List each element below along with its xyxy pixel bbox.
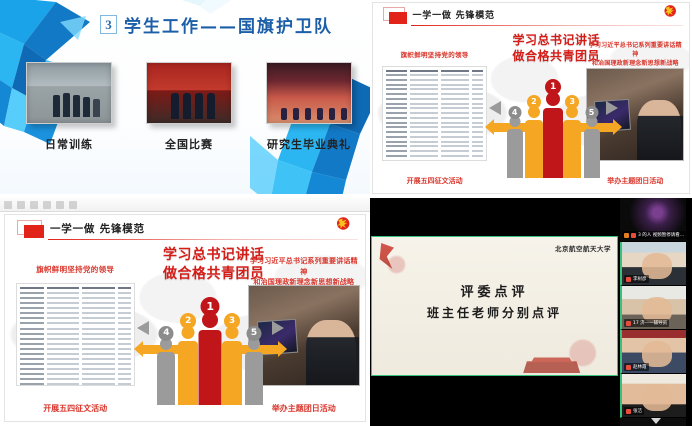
table-row <box>386 126 482 130</box>
left-caption: 旗帜鲜明坚持党的领导 <box>16 264 135 275</box>
five-step-people-infographic: 4 2 1 3 <box>138 306 282 405</box>
participant-thumbnail[interactable]: 张洁 <box>620 374 692 418</box>
participant-name: 17 济——辅导员 <box>633 320 667 326</box>
people-number-badge-4: 4 <box>508 106 521 119</box>
slide-header-title: 一学一做 先锋模范 <box>413 8 495 21</box>
ppt-toolbar-strip[interactable] <box>0 198 370 212</box>
people-figure-3: 3 <box>563 106 582 178</box>
table-row <box>386 92 482 96</box>
redo-icon[interactable] <box>30 201 38 209</box>
table-row <box>20 326 131 330</box>
table-row <box>386 111 482 115</box>
video-off-icon <box>624 233 629 238</box>
people-number-badge-3: 3 <box>224 313 240 329</box>
people-figures: 4 2 1 3 <box>155 312 264 405</box>
slide-header-title: 一学一做 先锋模范 <box>50 221 145 236</box>
people-figures: 4 2 1 3 <box>505 92 601 178</box>
table-row <box>20 372 131 376</box>
table-row <box>386 107 482 111</box>
photo-row: 日常训练 全国比赛 研究生毕业典礼 <box>26 62 352 152</box>
table-row <box>20 367 131 371</box>
table-row <box>20 291 131 295</box>
table-row <box>386 144 482 148</box>
people-figure-5: 5 <box>243 338 265 405</box>
comment-icon[interactable] <box>69 201 77 209</box>
screenshot-grid: 3 学生工作——国旗护卫队 日常训练 全国比赛 <box>0 0 692 426</box>
photo-card-graduation-ceremony: 研究生毕业典礼 <box>266 62 352 152</box>
photo-card-national-competition: 全国比赛 <box>146 62 232 152</box>
photo-national-competition <box>146 62 232 124</box>
document-list-screenshot <box>16 283 135 386</box>
table-row <box>20 362 131 366</box>
table-row <box>386 116 482 120</box>
table-row <box>20 321 131 325</box>
people-figure-2: 2 <box>177 326 199 404</box>
bottom-left-caption: 开展五四征文活动 <box>16 403 135 414</box>
slide-number-badge: 3 <box>100 15 117 34</box>
photo-caption-national-competition: 全国比赛 <box>146 136 232 152</box>
people-number-badge-2: 2 <box>180 313 196 329</box>
participant-thumbnail[interactable]: 赵林霞 <box>620 330 692 374</box>
photo-daily-training <box>26 62 112 124</box>
table-row <box>20 296 131 300</box>
slide-title-group: 3 学生工作——国旗护卫队 <box>100 12 333 37</box>
save-icon[interactable] <box>4 201 12 209</box>
participant-name: 张洁 <box>633 408 642 414</box>
five-step-people-infographic: 4 2 1 3 <box>490 87 616 178</box>
table-row <box>386 121 482 125</box>
table-row <box>386 149 482 153</box>
photo-caption-graduation-ceremony: 研究生毕业典礼 <box>266 136 352 152</box>
people-number-badge-1: 1 <box>201 297 220 316</box>
header-rule <box>48 239 358 241</box>
table-row <box>386 78 482 82</box>
table-row <box>386 159 482 161</box>
arrow-right-icon <box>606 101 618 115</box>
table-row <box>20 347 131 351</box>
table-row <box>20 352 131 356</box>
participant-label-group: 3 的人 视频暂停请看… <box>622 231 686 239</box>
bottom-right-caption: 举办主题团日活动 <box>248 403 360 414</box>
table-row <box>20 306 131 310</box>
right-caption-line1: 学习习近平总书记系列重要讲话精神 <box>248 256 360 277</box>
shared-slide-title-line1: 评委点评 <box>372 281 617 300</box>
party-emblem-icon <box>656 4 684 19</box>
photo-caption-daily-training: 日常训练 <box>26 136 112 152</box>
people-number-badge-1: 1 <box>545 79 561 95</box>
shared-slide-title-line2: 班主任老师分别点评 <box>372 304 617 321</box>
table-row <box>386 73 482 77</box>
table-row <box>20 311 131 315</box>
people-figure-4: 4 <box>505 116 524 178</box>
right-caption: 学习习近平总书记系列重要讲话精神 和治国理政新理念新思想新战略 <box>248 256 360 288</box>
shared-screen-slide: 北京航空航天大学 评委点评 班主任老师分别点评 <box>371 236 618 376</box>
arrow-left-icon <box>489 101 501 115</box>
panel-slide-flagguard: 3 学生工作——国旗护卫队 日常训练 全国比赛 <box>0 0 370 196</box>
mic-muted-icon <box>626 321 631 326</box>
table-row <box>20 357 131 361</box>
people-figure-3: 3 <box>221 326 243 404</box>
table-row <box>20 382 131 386</box>
participant-thumbnail[interactable]: 17 济——辅导员 <box>620 286 692 330</box>
table-row <box>386 154 482 158</box>
header-square-solid-icon <box>389 12 407 24</box>
mic-muted-icon <box>631 233 636 238</box>
pen-icon[interactable] <box>56 201 64 209</box>
panel-video-conference: 北京航空航天大学 评委点评 班主任老师分别点评 3 的人 视频暂停请看… <box>370 198 692 426</box>
person-shape <box>306 320 356 385</box>
right-caption: 学习习近平总书记系列重要讲话精神 和治国理政新理念新思想新战略 <box>586 41 684 68</box>
table-row <box>20 337 131 341</box>
left-caption: 旗帜鲜明坚持党的领导 <box>382 49 486 59</box>
photo-card-daily-training: 日常训练 <box>26 62 112 152</box>
table-row <box>386 83 482 87</box>
document-list-screenshot <box>382 66 486 161</box>
party-emblem-icon <box>327 216 359 233</box>
participant-thumbnail[interactable]: 李树彦 <box>620 242 692 286</box>
home-icon[interactable] <box>43 201 51 209</box>
shared-slide-title: 评委点评 班主任老师分别点评 <box>372 281 617 321</box>
table-row <box>386 102 482 106</box>
table-header-row <box>20 286 131 290</box>
chevron-down-icon[interactable] <box>651 418 661 424</box>
arrow-right-icon <box>272 321 284 335</box>
right-caption-line1: 学习习近平总书记系列重要讲话精神 <box>586 41 684 59</box>
people-number-badge-4: 4 <box>159 326 174 341</box>
table-row <box>386 97 482 101</box>
table-row <box>20 377 131 381</box>
people-figure-4: 4 <box>155 338 177 405</box>
video-right-edge <box>686 198 692 426</box>
slide-header: 一学一做 先锋模范 <box>5 215 365 242</box>
header-square-solid-icon <box>24 225 44 238</box>
people-figure-2: 2 <box>524 106 543 178</box>
arrow-left-icon <box>137 321 149 335</box>
table-row <box>386 130 482 134</box>
people-number-badge-3: 3 <box>565 95 579 109</box>
table-row <box>386 135 482 139</box>
people-figure-1: 1 <box>543 92 562 178</box>
participant-name: 3 的人 视频暂停请看… <box>638 232 684 238</box>
slide-title: 学生工作——国旗护卫队 <box>124 12 333 37</box>
mic-muted-icon <box>626 365 631 370</box>
person-shape <box>637 100 681 160</box>
people-number-badge-5: 5 <box>246 326 261 341</box>
participant-label-group: 赵林霞 <box>624 363 649 371</box>
university-logo-text: 北京航空航天大学 <box>555 243 611 253</box>
photo-graduation-ceremony <box>266 62 352 124</box>
table-row <box>386 140 482 144</box>
video-main-stage[interactable]: 北京航空航天大学 评委点评 班主任老师分别点评 <box>370 198 620 420</box>
participant-thumbnail[interactable]: 3 的人 视频暂停请看… <box>620 198 692 242</box>
participant-name: 李树彦 <box>633 276 647 282</box>
people-figure-1: 1 <box>199 312 221 405</box>
bottom-left-caption: 开展五四征文活动 <box>382 176 486 186</box>
participant-face <box>642 385 672 411</box>
table-row <box>20 332 131 336</box>
panel-slide-yixue-top: 一学一做 先锋模范 学习总书记讲话 做合格共青团员 旗帜鲜明坚持党的领导 <box>372 2 690 194</box>
table-row <box>20 301 131 305</box>
participant-label-group: 17 济——辅导员 <box>624 319 669 327</box>
participant-thumbnail-strip[interactable]: 3 的人 视频暂停请看… 李树彦 17 济——辅导员 <box>620 198 692 426</box>
table-row <box>20 342 131 346</box>
undo-icon[interactable] <box>17 201 25 209</box>
people-figure-5: 5 <box>582 116 601 178</box>
people-number-badge-2: 2 <box>527 95 541 109</box>
participant-label-group: 张洁 <box>624 407 644 415</box>
bottom-right-caption: 举办主题团日活动 <box>586 176 684 186</box>
panel-slide-yixue-bottom: 一学一做 先锋模范 学习总书记讲话 做合格共青团员 旗帜鲜明坚持党的领导 <box>4 214 366 422</box>
table-row <box>20 316 131 320</box>
mic-muted-icon <box>626 277 631 282</box>
table-header-row <box>386 69 482 73</box>
participant-label-group: 李树彦 <box>624 275 649 283</box>
table-row <box>386 88 482 92</box>
participant-name: 赵林霞 <box>633 364 647 370</box>
slide-header: 一学一做 先锋模范 <box>373 3 689 28</box>
people-number-badge-5: 5 <box>585 106 598 119</box>
mic-muted-icon <box>626 409 631 414</box>
header-rule <box>411 25 683 27</box>
